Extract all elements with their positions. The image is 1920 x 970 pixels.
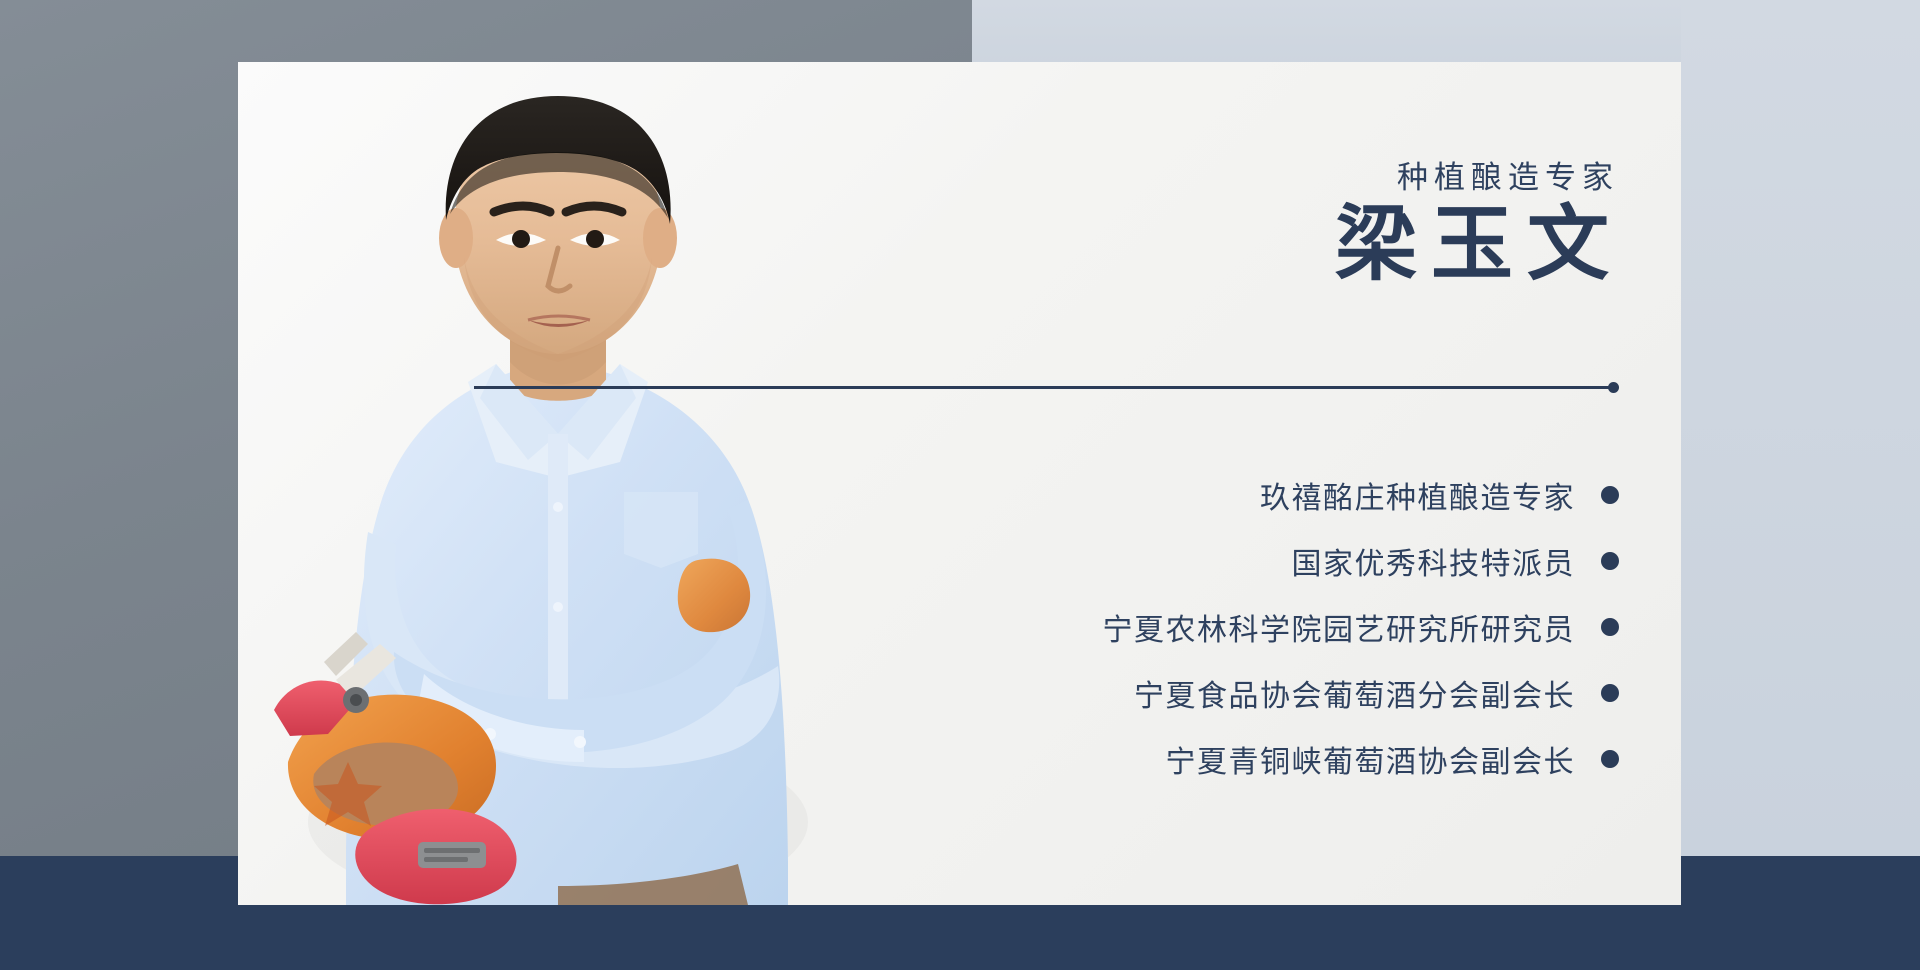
profile-card: 种植酿造专家 梁玉文 玖禧酩庄种植酿造专家 国家优秀科技特派员 宁夏农林科学院园… — [238, 62, 1681, 905]
poster-stage: 种植酿造专家 梁玉文 玖禧酩庄种植酿造专家 国家优秀科技特派员 宁夏农林科学院园… — [0, 0, 1920, 970]
list-item: 国家优秀科技特派员 — [556, 534, 1619, 588]
list-item: 宁夏青铜峡葡萄酒协会副会长 — [556, 732, 1619, 786]
divider-line — [474, 386, 1610, 389]
credential-text: 宁夏农林科学院园艺研究所研究员 — [1103, 605, 1576, 649]
divider — [474, 381, 1619, 395]
credential-text: 宁夏食品协会葡萄酒分会副会长 — [1134, 671, 1575, 715]
list-item: 宁夏农林科学院园艺研究所研究员 — [556, 600, 1619, 654]
bullet-dot-icon — [1601, 618, 1619, 636]
list-item: 宁夏食品协会葡萄酒分会副会长 — [556, 666, 1619, 720]
bullet-dot-icon — [1601, 684, 1619, 702]
credential-text: 宁夏青铜峡葡萄酒协会副会长 — [1166, 737, 1576, 781]
info-column: 种植酿造专家 梁玉文 玖禧酩庄种植酿造专家 国家优秀科技特派员 宁夏农林科学院园… — [618, 62, 1681, 905]
bullet-dot-icon — [1601, 486, 1619, 504]
bullet-dot-icon — [1601, 552, 1619, 570]
credentials-list: 玖禧酩庄种植酿造专家 国家优秀科技特派员 宁夏农林科学院园艺研究所研究员 宁夏食… — [556, 468, 1619, 798]
credential-text: 国家优秀科技特派员 — [1292, 539, 1576, 583]
bullet-dot-icon — [1601, 750, 1619, 768]
list-item: 玖禧酩庄种植酿造专家 — [556, 468, 1619, 522]
person-name: 梁玉文 — [1335, 198, 1623, 292]
divider-end-dot — [1608, 382, 1619, 393]
background-panel-blue-right — [1681, 0, 1920, 856]
credential-text: 玖禧酩庄种植酿造专家 — [1260, 473, 1575, 517]
role-label: 种植酿造专家 — [1397, 152, 1619, 197]
